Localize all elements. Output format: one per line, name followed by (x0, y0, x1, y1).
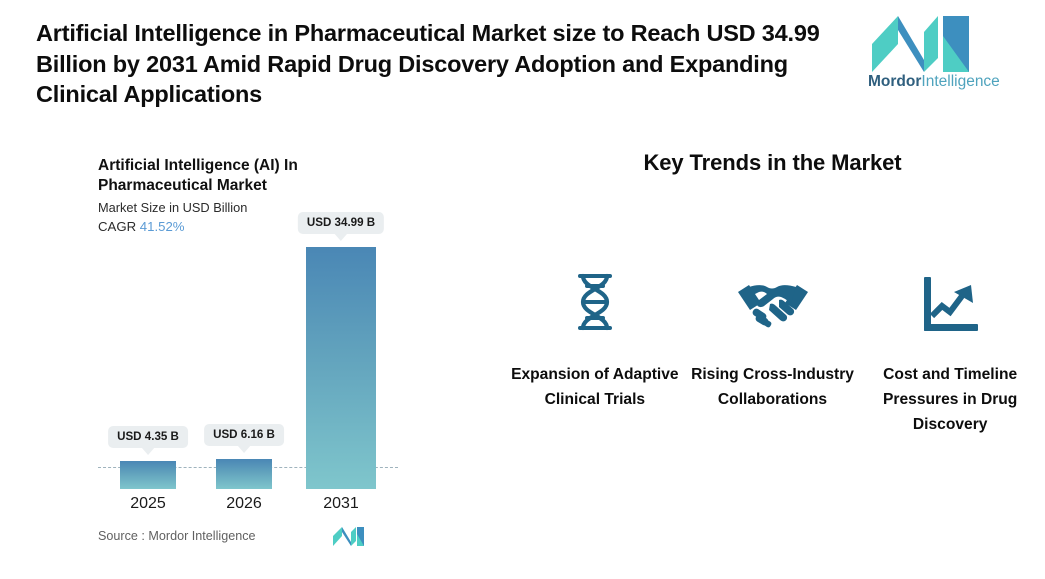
chart-panel: Artificial Intelligence (AI) In Pharmace… (0, 118, 500, 579)
bar-chart-plot: USD 4.35 B2025USD 6.16 B2026USD 34.99 B2… (98, 214, 398, 489)
bar-value-callout: USD 34.99 B (298, 212, 384, 234)
trends-panel: Key Trends in the Market (500, 118, 1045, 579)
infographic-page: Artificial Intelligence in Pharmaceutica… (0, 0, 1045, 579)
bar (216, 459, 272, 489)
page-title: Artificial Intelligence in Pharmaceutica… (36, 18, 836, 110)
bar-value-callout: USD 6.16 B (204, 424, 284, 446)
chart-subtitle: Market Size in USD Billion (98, 200, 247, 215)
mordor-logo-wordmark: MordorIntelligence (868, 72, 978, 91)
bar-value-callout: USD 4.35 B (108, 426, 188, 448)
bar-group: USD 34.99 B2031 (306, 214, 376, 489)
bar-category-label: 2031 (323, 495, 359, 513)
header: Artificial Intelligence in Pharmaceutica… (0, 0, 1045, 118)
trends-heading: Key Trends in the Market (500, 150, 1045, 176)
mordor-intelligence-logo: MordorIntelligence (868, 14, 978, 96)
chart-title: Artificial Intelligence (AI) In Pharmace… (98, 156, 388, 196)
trend-label: Rising Cross-Industry Collaborations (684, 362, 862, 412)
trend-card-row: Expansion of Adaptive Clinical Trials (506, 268, 1039, 437)
growth-chart-arrow-icon (921, 268, 979, 340)
handshake-icon (736, 268, 810, 340)
trend-card: Cost and Timeline Pressures in Drug Disc… (861, 268, 1039, 437)
source-attribution: Source : Mordor Intelligence (98, 529, 256, 543)
bar-group: USD 4.35 B2025 (120, 214, 176, 489)
bar (120, 461, 176, 489)
trend-card: Expansion of Adaptive Clinical Trials (506, 268, 684, 437)
trend-label: Expansion of Adaptive Clinical Trials (506, 362, 684, 412)
dna-helix-icon (573, 268, 617, 340)
mordor-logo-small-icon (332, 526, 365, 546)
bar (306, 247, 376, 489)
trend-card: Rising Cross-Industry Collaborations (684, 268, 862, 437)
bar-category-label: 2025 (130, 495, 166, 513)
mordor-logo-mark (868, 14, 978, 72)
bar-category-label: 2026 (226, 495, 262, 513)
trend-label: Cost and Timeline Pressures in Drug Disc… (861, 362, 1039, 437)
brand-word-intelligence: Intelligence (921, 73, 999, 90)
brand-word-mordor: Mordor (868, 73, 921, 90)
bar-group: USD 6.16 B2026 (216, 214, 272, 489)
